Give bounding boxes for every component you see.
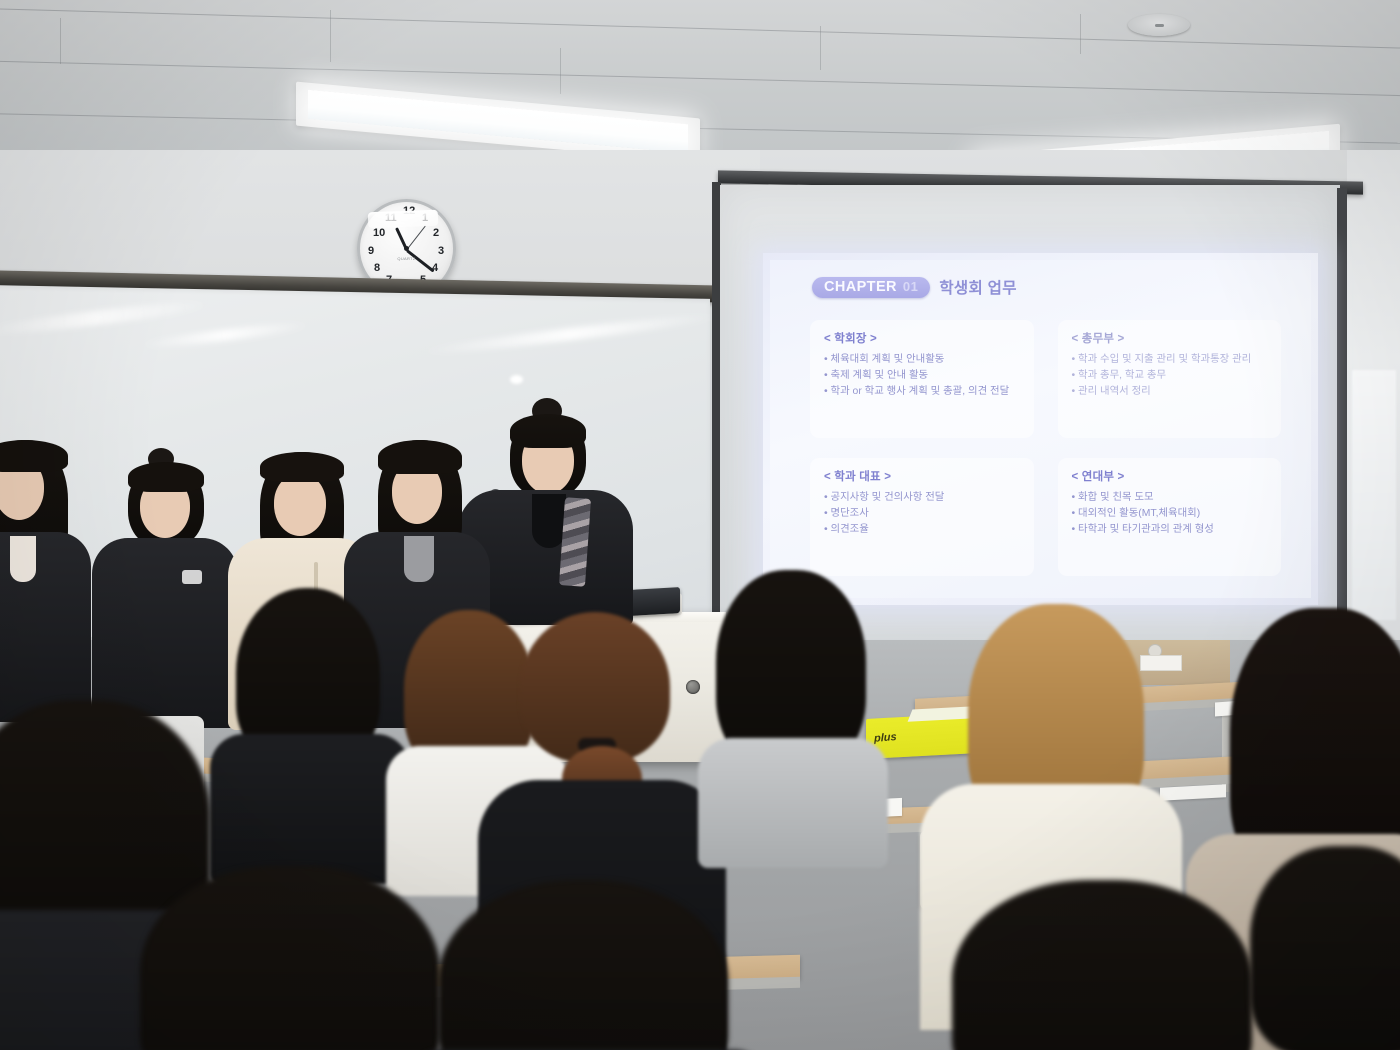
card-bullet: 타학과 및 타기관과의 관계 형성 <box>1072 522 1270 538</box>
student-fringe <box>260 452 344 482</box>
foreground-hair <box>952 880 1252 1050</box>
card-bullet: 명단조사 <box>824 506 1022 522</box>
student-inner-top <box>404 536 434 582</box>
card-bullet: 학과 총무, 학교 총무 <box>1072 368 1270 384</box>
clock-glare <box>368 210 439 228</box>
tissue-box-brand: plus <box>874 731 897 745</box>
clock-center-pin <box>404 246 409 251</box>
slide-card-class-rep: < 학과 대표 > 공지사항 및 건의사항 전달 명단조사 의견조율 <box>810 458 1034 576</box>
student-fringe <box>378 440 462 474</box>
tissue-box: plus <box>866 713 978 759</box>
card-title: < 학과 대표 > <box>824 468 1022 484</box>
box-label <box>1140 655 1182 671</box>
chapter-number: 01 <box>903 279 918 294</box>
presenter-hair-front <box>510 414 586 448</box>
student-puffer <box>92 538 238 728</box>
student-inner-top <box>10 536 36 582</box>
puffer-logo-icon <box>182 570 202 584</box>
slide-card-grid: < 학회장 > 체육대회 계획 및 안내활동 축제 계획 및 안내 활동 학과 … <box>810 320 1281 576</box>
chapter-word: CHAPTER <box>824 279 897 295</box>
tissue-box-opening <box>908 706 975 722</box>
slide-header: CHAPTER 01 학생회 업무 <box>812 276 1297 298</box>
card-bullet: 화합 및 친목 도모 <box>1072 490 1270 506</box>
slide-content: CHAPTER 01 학생회 업무 < 학회장 > 체육대회 계획 및 안내활동… <box>788 274 1297 586</box>
slide-title: 학생회 업무 <box>939 276 1016 298</box>
student-fringe <box>128 462 204 492</box>
card-bullet: 대외적인 활동(MT,체육대회) <box>1072 506 1270 522</box>
card-bullet: 관리 내역서 정리 <box>1072 384 1270 400</box>
card-title: < 학회장 > <box>824 330 1022 346</box>
clock-brand-text: QUARTZ <box>397 256 415 261</box>
clock-number-10: 10 <box>373 228 385 239</box>
card-bullet: 의견조율 <box>824 522 1022 538</box>
foreground-hair <box>1250 846 1400 1050</box>
card-bullet: 체육대회 계획 및 안내활동 <box>824 352 1022 368</box>
right-wall-glow <box>1352 370 1396 620</box>
screen-right-edge <box>1337 188 1347 658</box>
clock-second-hand <box>406 225 425 249</box>
clock-number-8: 8 <box>374 263 380 274</box>
student-fringe <box>0 440 68 472</box>
presenter-collar <box>532 494 566 548</box>
podium-knob-icon <box>686 680 700 694</box>
clock-number-9: 9 <box>368 246 374 257</box>
card-title: < 총무부 > <box>1072 330 1270 346</box>
projected-slide: CHAPTER 01 학생회 업무 < 학회장 > 체육대회 계획 및 안내활동… <box>763 253 1318 605</box>
foreground-hair <box>140 866 440 1050</box>
seated-coat <box>210 734 410 884</box>
slide-card-treasury: < 총무부 > 학과 수입 및 지출 관리 및 학과통장 관리 학과 총무, 학… <box>1058 320 1282 438</box>
card-bullet: 축제 계획 및 안내 활동 <box>824 368 1022 384</box>
slide-card-solidarity: < 연대부 > 화합 및 친목 도모 대외적인 활동(MT,체육대회) 타학과 … <box>1058 458 1282 576</box>
chapter-badge: CHAPTER 01 <box>812 277 930 298</box>
ceiling-speaker-icon <box>1128 14 1190 36</box>
student-face <box>274 474 326 536</box>
clock-number-3: 3 <box>438 246 444 257</box>
whiteboard-light-dot <box>510 375 523 384</box>
slide-card-president: < 학회장 > 체육대회 계획 및 안내활동 축제 계획 및 안내 활동 학과 … <box>810 320 1034 438</box>
card-bullet: 학과 or 학교 행사 계획 및 총괄, 의견 전달 <box>824 384 1022 400</box>
card-bullet: 학과 수입 및 지출 관리 및 학과통장 관리 <box>1072 352 1270 368</box>
card-bullet: 공지사항 및 건의사항 전달 <box>824 490 1022 506</box>
classroom-photo: 12 1 2 3 4 5 6 7 8 9 10 11 QUARTZ <box>0 0 1400 1050</box>
clock-number-2: 2 <box>433 228 439 239</box>
card-title: < 연대부 > <box>1072 468 1270 484</box>
seated-top <box>698 738 888 868</box>
